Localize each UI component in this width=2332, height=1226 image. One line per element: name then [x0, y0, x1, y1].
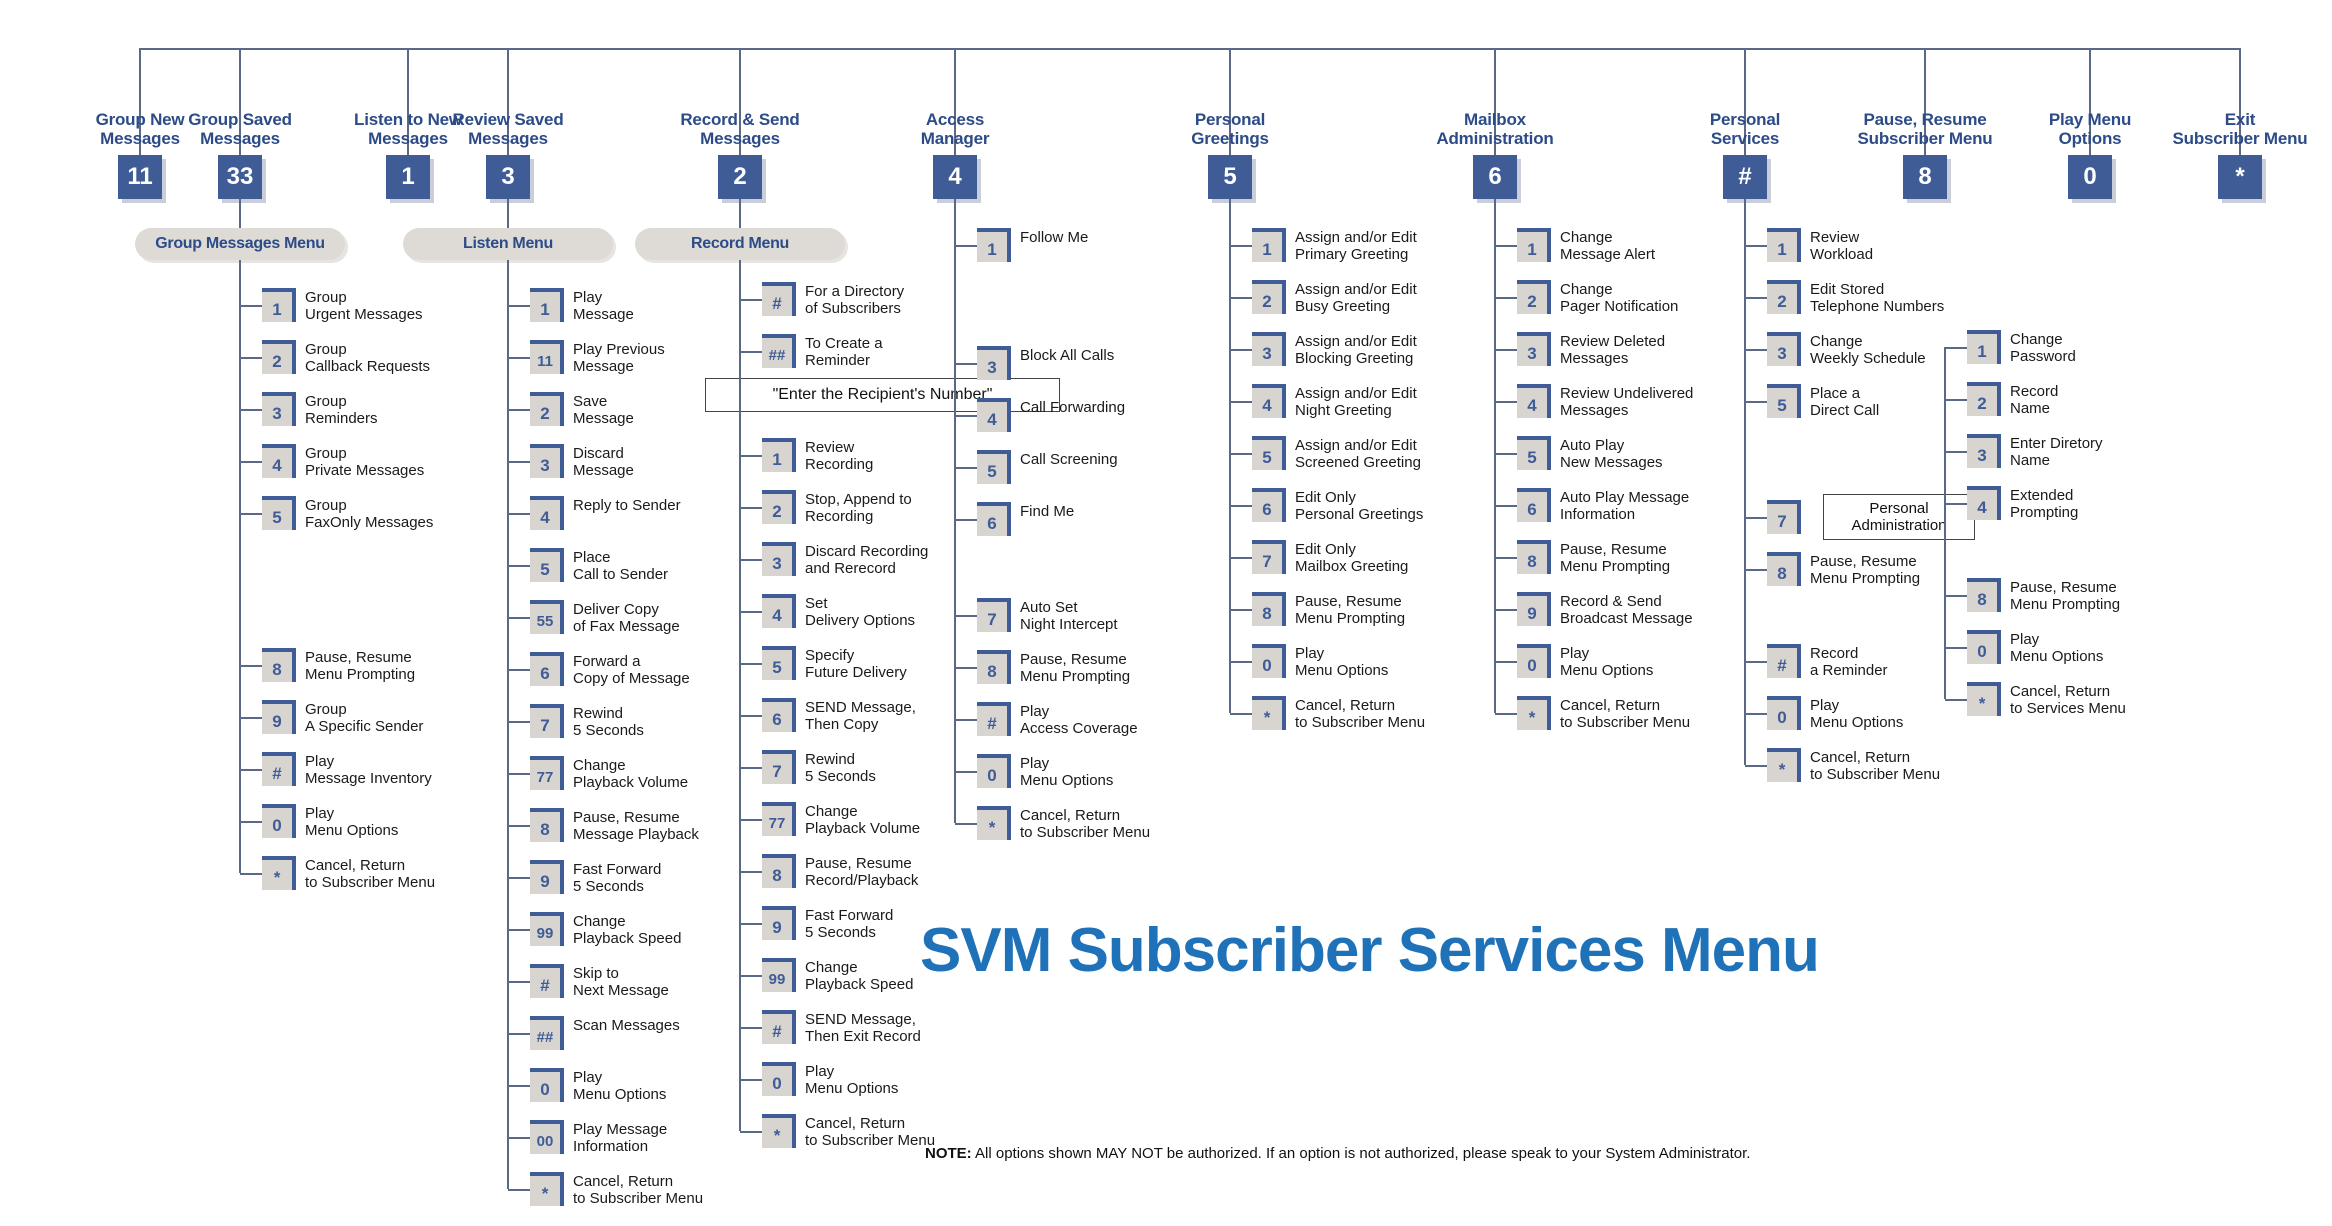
option-label: Fast Forward 5 Seconds: [573, 860, 661, 895]
option-personal-greetings-3[interactable]: 3Assign and/or Edit Blocking Greeting: [1252, 332, 1417, 367]
option-label: Edit Only Personal Greetings: [1295, 488, 1423, 523]
option-record-and-send-messages-#[interactable]: #SEND Message, Then Exit Record: [762, 1010, 921, 1045]
tick-personal-administration: [1945, 647, 1967, 649]
tick-personal-services: [1745, 569, 1767, 571]
option-key-#[interactable]: #: [262, 752, 296, 786]
key-square-mailbox-administration[interactable]: 6: [1473, 155, 1517, 199]
footer-note-text: All options shown MAY NOT be authorized.…: [972, 1145, 1751, 1162]
option-key-3[interactable]: 3: [762, 542, 796, 576]
option-key-1[interactable]: 1: [1967, 330, 2001, 364]
option-review-saved-messages-0[interactable]: 0Play Menu Options: [530, 1068, 666, 1103]
option-label: Pause, Resume Menu Prompting: [1020, 650, 1130, 685]
option-key-2[interactable]: 2: [1967, 382, 2001, 416]
option-key-0[interactable]: 0: [530, 1068, 564, 1102]
option-key-55[interactable]: 55: [530, 600, 564, 634]
option-key-8[interactable]: 8: [530, 808, 564, 842]
option-access-manager-*[interactable]: *Cancel, Return to Subscriber Menu: [977, 806, 1150, 841]
option-key-9[interactable]: 9: [262, 700, 296, 734]
tick-record-and-send-messages: [740, 871, 762, 873]
tick-review-saved-messages: [508, 721, 530, 723]
option-group-saved-messages-2[interactable]: 2Group Callback Requests: [262, 340, 430, 375]
tick-review-saved-messages: [508, 773, 530, 775]
option-record-and-send-messages-2[interactable]: 2Stop, Append to Recording: [762, 490, 912, 525]
tick-access-manager: [955, 719, 977, 721]
option-key-3[interactable]: 3: [1967, 434, 2001, 468]
option-key-1[interactable]: 1: [977, 228, 1011, 262]
option-key-5[interactable]: 5: [762, 646, 796, 680]
option-key-3[interactable]: 3: [1767, 332, 1801, 366]
option-access-manager-#[interactable]: #Play Access Coverage: [977, 702, 1138, 737]
option-key-7[interactable]: 7: [762, 750, 796, 784]
option-review-saved-messages-77[interactable]: 77Change Playback Volume: [530, 756, 688, 791]
option-key-1[interactable]: 1: [262, 288, 296, 322]
option-key-3[interactable]: 3: [1517, 332, 1551, 366]
key-square-personal-services[interactable]: #: [1723, 155, 1767, 199]
option-personal-services-3[interactable]: 3Change Weekly Schedule: [1767, 332, 1926, 367]
option-key-*[interactable]: *: [1252, 696, 1286, 730]
option-review-saved-messages-8[interactable]: 8Pause, Resume Message Playback: [530, 808, 699, 843]
option-personal-services-1[interactable]: 1Review Workload: [1767, 228, 1873, 263]
option-key-11[interactable]: 11: [530, 340, 564, 374]
option-review-saved-messages-1[interactable]: 1Play Message: [530, 288, 634, 323]
option-group-saved-messages-#[interactable]: #Play Message Inventory: [262, 752, 432, 787]
option-key-7[interactable]: 7: [1252, 540, 1286, 574]
option-review-saved-messages-00[interactable]: 00Play Message Information: [530, 1120, 667, 1155]
option-personal-services-0[interactable]: 0Play Menu Options: [1767, 696, 1903, 731]
option-access-manager-0[interactable]: 0Play Menu Options: [977, 754, 1113, 789]
option-key-4[interactable]: 4: [1252, 384, 1286, 418]
option-record-and-send-messages-7[interactable]: 7Rewind 5 Seconds: [762, 750, 876, 785]
tick-group-saved-messages: [240, 357, 262, 359]
option-group-saved-messages-9[interactable]: 9Group A Specific Sender: [262, 700, 423, 735]
option-personal-administration-1[interactable]: 1Change Password: [1967, 330, 2076, 365]
option-personal-greetings-5[interactable]: 5Assign and/or Edit Screened Greeting: [1252, 436, 1421, 471]
option-group-saved-messages-0[interactable]: 0Play Menu Options: [262, 804, 398, 839]
option-label: Cancel, Return to Subscriber Menu: [805, 1114, 935, 1149]
option-label: Group Urgent Messages: [305, 288, 423, 323]
option-label: Enter Diretory Name: [2010, 434, 2103, 469]
option-access-manager-6[interactable]: 6Find Me: [977, 502, 1074, 536]
option-record-and-send-messages-6[interactable]: 6SEND Message, Then Copy: [762, 698, 916, 733]
option-label: Pause, Resume Menu Prompting: [1810, 552, 1920, 587]
option-key-2[interactable]: 2: [1767, 280, 1801, 314]
column-title-access-manager: Access Manager: [860, 110, 1050, 148]
option-key-99[interactable]: 99: [762, 958, 796, 992]
tick-personal-administration: [1945, 699, 1967, 701]
option-label: Place Call to Sender: [573, 548, 668, 583]
tick-record-and-send-messages: [740, 819, 762, 821]
option-group-saved-messages-*[interactable]: *Cancel, Return to Subscriber Menu: [262, 856, 435, 891]
option-key-#[interactable]: #: [1767, 644, 1801, 678]
option-key-5[interactable]: 5: [262, 496, 296, 530]
option-review-saved-messages-2[interactable]: 2Save Message: [530, 392, 634, 427]
column-title-review-saved-messages: Review Saved Messages: [413, 110, 603, 148]
option-key-8[interactable]: 8: [1252, 592, 1286, 626]
option-access-manager-1[interactable]: 1Follow Me: [977, 228, 1088, 262]
option-personal-greetings-*[interactable]: *Cancel, Return to Subscriber Menu: [1252, 696, 1425, 731]
tick-access-manager: [955, 823, 977, 825]
key-square-group-saved-messages[interactable]: 33: [218, 155, 262, 199]
option-key-1[interactable]: 1: [1517, 228, 1551, 262]
option-personal-greetings-1[interactable]: 1Assign and/or Edit Primary Greeting: [1252, 228, 1417, 263]
tick-record-and-send-messages: [740, 1079, 762, 1081]
option-group-saved-messages-1[interactable]: 1Group Urgent Messages: [262, 288, 423, 323]
option-label: Auto Set Night Intercept: [1020, 598, 1118, 633]
option-mailbox-administration-1[interactable]: 1Change Message Alert: [1517, 228, 1655, 263]
option-key-6[interactable]: 6: [1252, 488, 1286, 522]
option-key-9[interactable]: 9: [762, 906, 796, 940]
option-key-6[interactable]: 6: [977, 502, 1011, 536]
option-key-5[interactable]: 5: [1517, 436, 1551, 470]
option-label: Group Private Messages: [305, 444, 424, 479]
option-key-3[interactable]: 3: [262, 392, 296, 426]
option-group-saved-messages-5[interactable]: 5Group FaxOnly Messages: [262, 496, 433, 531]
tick-personal-greetings: [1230, 401, 1252, 403]
option-key-2[interactable]: 2: [1517, 280, 1551, 314]
option-review-saved-messages-55[interactable]: 55Deliver Copy of Fax Message: [530, 600, 680, 635]
tick-review-saved-messages: [508, 1137, 530, 1139]
option-label: Play Message: [573, 288, 634, 323]
connector-pill-record-and-send-messages: [739, 199, 741, 228]
option-personal-administration-*[interactable]: *Cancel, Return to Services Menu: [1967, 682, 2126, 717]
tick-review-saved-messages: [508, 409, 530, 411]
option-key-*[interactable]: *: [977, 806, 1011, 840]
option-record-and-send-messages-0[interactable]: 0Play Menu Options: [762, 1062, 898, 1097]
option-mailbox-administration-0[interactable]: 0Play Menu Options: [1517, 644, 1653, 679]
key-square-pause-resume-subscriber-menu[interactable]: 8: [1903, 155, 1947, 199]
option-label: Cancel, Return to Subscriber Menu: [1810, 748, 1940, 783]
option-key-8[interactable]: 8: [1967, 578, 2001, 612]
option-key-77[interactable]: 77: [530, 756, 564, 790]
option-review-saved-messages-4[interactable]: 4Reply to Sender: [530, 496, 681, 530]
option-record-and-send-messages-1[interactable]: 1Review Recording: [762, 438, 873, 473]
option-key-4[interactable]: 4: [262, 444, 296, 478]
option-access-manager-3[interactable]: 3Block All Calls: [977, 346, 1114, 380]
tick-access-manager: [955, 467, 977, 469]
key-square-access-manager[interactable]: 4: [933, 155, 977, 199]
option-personal-administration-3[interactable]: 3Enter Diretory Name: [1967, 434, 2103, 469]
connector-pill-group-saved-messages: [239, 199, 241, 228]
tick-personal-services: [1745, 401, 1767, 403]
option-key-#[interactable]: #: [762, 1010, 796, 1044]
option-key-7[interactable]: 7: [530, 704, 564, 738]
option-label: Assign and/or Edit Busy Greeting: [1295, 280, 1417, 315]
option-key-1[interactable]: 1: [1252, 228, 1286, 262]
option-key-2[interactable]: 2: [762, 490, 796, 524]
option-label: Assign and/or Edit Screened Greeting: [1295, 436, 1421, 471]
option-label: Follow Me: [1020, 228, 1088, 246]
option-personal-administration-0[interactable]: 0Play Menu Options: [1967, 630, 2103, 665]
option-access-manager-7[interactable]: 7Auto Set Night Intercept: [977, 598, 1118, 633]
option-key-0[interactable]: 0: [1252, 644, 1286, 678]
key-square-personal-greetings[interactable]: 5: [1208, 155, 1252, 199]
option-review-saved-messages-##[interactable]: ##Scan Messages: [530, 1016, 680, 1050]
tick-mailbox-administration: [1495, 453, 1517, 455]
option-review-saved-messages-6[interactable]: 6Forward a Copy of Message: [530, 652, 690, 687]
tick-review-saved-messages: [508, 981, 530, 983]
option-label: For a Directory of Subscribers: [805, 282, 904, 317]
spine-access-manager: [954, 199, 956, 823]
option-label: Group A Specific Sender: [305, 700, 423, 735]
option-personal-administration-8[interactable]: 8Pause, Resume Menu Prompting: [1967, 578, 2120, 613]
option-key-#[interactable]: #: [530, 964, 564, 998]
option-record-and-send-messages-3[interactable]: 3Discard Recording and Rerecord: [762, 542, 928, 577]
tick-review-saved-messages: [508, 565, 530, 567]
option-record-and-send-messages-5[interactable]: 5Specify Future Delivery: [762, 646, 907, 681]
option-review-saved-messages-3[interactable]: 3Discard Message: [530, 444, 634, 479]
option-review-saved-messages-#[interactable]: #Skip to Next Message: [530, 964, 669, 999]
option-group-saved-messages-8[interactable]: 8Pause, Resume Menu Prompting: [262, 648, 415, 683]
option-personal-services-7[interactable]: 7: [1767, 500, 1801, 534]
tick-review-saved-messages: [508, 357, 530, 359]
option-record-and-send-messages-##[interactable]: ##To Create a Reminder: [762, 334, 883, 369]
option-key-3[interactable]: 3: [977, 346, 1011, 380]
tick-record-and-send-messages: [740, 559, 762, 561]
option-label: Play Menu Options: [1560, 644, 1653, 679]
option-record-and-send-messages-9[interactable]: 9Fast Forward 5 Seconds: [762, 906, 893, 941]
tick-mailbox-administration: [1495, 297, 1517, 299]
tick-review-saved-messages: [508, 825, 530, 827]
option-key-2[interactable]: 2: [262, 340, 296, 374]
option-key-6[interactable]: 6: [762, 698, 796, 732]
option-review-saved-messages-*[interactable]: *Cancel, Return to Subscriber Menu: [530, 1172, 703, 1207]
option-label: Play Menu Options: [1020, 754, 1113, 789]
option-key-9[interactable]: 9: [530, 860, 564, 894]
option-key-7[interactable]: 7: [977, 598, 1011, 632]
option-record-and-send-messages-4[interactable]: 4Set Delivery Options: [762, 594, 915, 629]
option-personal-administration-4[interactable]: 4Extended Prompting: [1967, 486, 2078, 521]
option-mailbox-administration-*[interactable]: *Cancel, Return to Subscriber Menu: [1517, 696, 1690, 731]
option-key-4[interactable]: 4: [977, 398, 1011, 432]
tick-review-saved-messages: [508, 513, 530, 515]
option-label: Fast Forward 5 Seconds: [805, 906, 893, 941]
tick-access-manager: [955, 615, 977, 617]
option-label: Cancel, Return to Subscriber Menu: [1560, 696, 1690, 731]
option-label: Block All Calls: [1020, 346, 1114, 364]
spine-personal-services: [1744, 199, 1746, 765]
option-key-2[interactable]: 2: [1252, 280, 1286, 314]
option-label: Rewind 5 Seconds: [573, 704, 644, 739]
key-square-play-menu-options[interactable]: 0: [2068, 155, 2112, 199]
option-key-*[interactable]: *: [530, 1172, 564, 1206]
option-key-77[interactable]: 77: [762, 802, 796, 836]
option-record-and-send-messages-#[interactable]: #For a Directory of Subscribers: [762, 282, 904, 317]
tick-personal-services: [1745, 765, 1767, 767]
tick-review-saved-messages: [508, 1189, 530, 1191]
tick-access-manager: [955, 363, 977, 365]
option-key-4[interactable]: 4: [1967, 486, 2001, 520]
option-key-8[interactable]: 8: [977, 650, 1011, 684]
option-personal-greetings-6[interactable]: 6Edit Only Personal Greetings: [1252, 488, 1423, 523]
tick-mailbox-administration: [1495, 401, 1517, 403]
tick-mailbox-administration: [1495, 609, 1517, 611]
option-key-0[interactable]: 0: [1967, 630, 2001, 664]
option-personal-services-2[interactable]: 2Edit Stored Telephone Numbers: [1767, 280, 1944, 315]
key-square-exit-subscriber-menu[interactable]: *: [2218, 155, 2262, 199]
option-key-4[interactable]: 4: [530, 496, 564, 530]
option-key-6[interactable]: 6: [530, 652, 564, 686]
option-key-3[interactable]: 3: [1252, 332, 1286, 366]
option-key-5[interactable]: 5: [1767, 384, 1801, 418]
option-key-*[interactable]: *: [1767, 748, 1801, 782]
spine-mailbox-administration: [1494, 199, 1496, 713]
key-square-record-and-send-messages[interactable]: 2: [718, 155, 762, 199]
option-review-saved-messages-11[interactable]: 11Play Previous Message: [530, 340, 665, 375]
option-key-0[interactable]: 0: [977, 754, 1011, 788]
option-key-0[interactable]: 0: [262, 804, 296, 838]
menu-pill-group-saved-messages: Group Messages Menu: [135, 228, 345, 260]
option-key-8[interactable]: 8: [1517, 540, 1551, 574]
option-key-3[interactable]: 3: [530, 444, 564, 478]
option-access-manager-5[interactable]: 5Call Screening: [977, 450, 1118, 484]
option-label: SEND Message, Then Exit Record: [805, 1010, 921, 1045]
spine-review-saved-messages: [507, 260, 509, 1189]
option-key-5[interactable]: 5: [530, 548, 564, 582]
option-label: Record Name: [2010, 382, 2058, 417]
option-key-5[interactable]: 5: [1252, 436, 1286, 470]
option-personal-administration-2[interactable]: 2Record Name: [1967, 382, 2058, 417]
option-key-0[interactable]: 0: [1767, 696, 1801, 730]
option-label: Set Delivery Options: [805, 594, 915, 629]
option-mailbox-administration-8[interactable]: 8Pause, Resume Menu Prompting: [1517, 540, 1670, 575]
column-title-personal-greetings: Personal Greetings: [1135, 110, 1325, 148]
option-key-8[interactable]: 8: [262, 648, 296, 682]
option-key-##[interactable]: ##: [762, 334, 796, 368]
option-key-99[interactable]: 99: [530, 912, 564, 946]
option-label: Review Deleted Messages: [1560, 332, 1665, 367]
tick-access-manager: [955, 245, 977, 247]
option-mailbox-administration-3[interactable]: 3Review Deleted Messages: [1517, 332, 1665, 367]
tick-personal-services: [1745, 661, 1767, 663]
option-key-4[interactable]: 4: [762, 594, 796, 628]
option-key-00[interactable]: 00: [530, 1120, 564, 1154]
option-record-and-send-messages-*[interactable]: *Cancel, Return to Subscriber Menu: [762, 1114, 935, 1149]
option-label: Pause, Resume Menu Prompting: [1560, 540, 1670, 575]
tick-review-saved-messages: [508, 305, 530, 307]
option-label: Play Access Coverage: [1020, 702, 1138, 737]
option-label: Extended Prompting: [2010, 486, 2078, 521]
tick-personal-services: [1745, 349, 1767, 351]
option-record-and-send-messages-8[interactable]: 8Pause, Resume Record/Playback: [762, 854, 918, 889]
option-key-1[interactable]: 1: [1767, 228, 1801, 262]
tick-record-and-send-messages: [740, 1027, 762, 1029]
option-review-saved-messages-7[interactable]: 7Rewind 5 Seconds: [530, 704, 644, 739]
option-key-5[interactable]: 5: [977, 450, 1011, 484]
menu-pill-review-saved-messages: Listen Menu: [403, 228, 613, 260]
option-key-8[interactable]: 8: [762, 854, 796, 888]
option-label: Auto Play Message Information: [1560, 488, 1689, 523]
option-group-saved-messages-4[interactable]: 4Group Private Messages: [262, 444, 424, 479]
tick-review-saved-messages: [508, 461, 530, 463]
option-key-#[interactable]: #: [977, 702, 1011, 736]
option-review-saved-messages-9[interactable]: 9Fast Forward 5 Seconds: [530, 860, 661, 895]
option-personal-services-*[interactable]: *Cancel, Return to Subscriber Menu: [1767, 748, 1940, 783]
option-personal-greetings-7[interactable]: 7Edit Only Mailbox Greeting: [1252, 540, 1408, 575]
tick-personal-greetings: [1230, 349, 1252, 351]
option-mailbox-administration-9[interactable]: 9Record & Send Broadcast Message: [1517, 592, 1693, 627]
option-key-9[interactable]: 9: [1517, 592, 1551, 626]
option-personal-greetings-2[interactable]: 2Assign and/or Edit Busy Greeting: [1252, 280, 1417, 315]
tick-personal-greetings: [1230, 713, 1252, 715]
option-key-2[interactable]: 2: [530, 392, 564, 426]
option-record-and-send-messages-77[interactable]: 77Change Playback Volume: [762, 802, 920, 837]
option-key-*[interactable]: *: [262, 856, 296, 890]
option-label: Edit Stored Telephone Numbers: [1810, 280, 1944, 315]
option-key-7[interactable]: 7: [1767, 500, 1801, 534]
option-key-##[interactable]: ##: [530, 1016, 564, 1050]
option-label: Place a Direct Call: [1810, 384, 1879, 419]
tick-review-saved-messages: [508, 1033, 530, 1035]
option-label: Auto Play New Messages: [1560, 436, 1663, 471]
tick-record-and-send-messages: [740, 767, 762, 769]
option-label: Assign and/or Edit Night Greeting: [1295, 384, 1417, 419]
tick-record-and-send-messages: [740, 663, 762, 665]
column-title-personal-services: Personal Services: [1650, 110, 1840, 148]
option-label: Specify Future Delivery: [805, 646, 907, 681]
option-key-*[interactable]: *: [1967, 682, 2001, 716]
option-label: Group FaxOnly Messages: [305, 496, 433, 531]
option-key-*[interactable]: *: [762, 1114, 796, 1148]
tick-personal-administration: [1945, 399, 1967, 401]
option-record-and-send-messages-99[interactable]: 99Change Playback Speed: [762, 958, 913, 993]
key-square-review-saved-messages[interactable]: 3: [486, 155, 530, 199]
option-label: Save Message: [573, 392, 634, 427]
option-key-0[interactable]: 0: [762, 1062, 796, 1096]
option-review-saved-messages-5[interactable]: 5Place Call to Sender: [530, 548, 668, 583]
option-review-saved-messages-99[interactable]: 99Change Playback Speed: [530, 912, 681, 947]
option-key-0[interactable]: 0: [1517, 644, 1551, 678]
option-key-6[interactable]: 6: [1517, 488, 1551, 522]
tick-personal-administration: [1945, 503, 1967, 505]
option-personal-services-#[interactable]: #Record a Reminder: [1767, 644, 1888, 679]
option-label: Pause, Resume Menu Prompting: [305, 648, 415, 683]
option-group-saved-messages-3[interactable]: 3Group Reminders: [262, 392, 378, 427]
option-key-#[interactable]: #: [762, 282, 796, 316]
option-key-4[interactable]: 4: [1517, 384, 1551, 418]
tick-personal-greetings: [1230, 557, 1252, 559]
key-square-group-new-messages[interactable]: 11: [118, 155, 162, 199]
option-label: Change Pager Notification: [1560, 280, 1678, 315]
option-mailbox-administration-5[interactable]: 5Auto Play New Messages: [1517, 436, 1663, 471]
footer-note: NOTE: All options shown MAY NOT be autho…: [925, 1145, 1750, 1162]
option-mailbox-administration-6[interactable]: 6Auto Play Message Information: [1517, 488, 1689, 523]
option-label: Pause, Resume Message Playback: [573, 808, 699, 843]
option-personal-greetings-0[interactable]: 0Play Menu Options: [1252, 644, 1388, 679]
tick-personal-administration: [1945, 451, 1967, 453]
option-access-manager-8[interactable]: 8Pause, Resume Menu Prompting: [977, 650, 1130, 685]
tick-personal-greetings: [1230, 609, 1252, 611]
option-key-1[interactable]: 1: [762, 438, 796, 472]
option-personal-greetings-8[interactable]: 8Pause, Resume Menu Prompting: [1252, 592, 1405, 627]
option-personal-greetings-4[interactable]: 4Assign and/or Edit Night Greeting: [1252, 384, 1417, 419]
option-access-manager-4[interactable]: 4Call Forwarding: [977, 398, 1125, 432]
option-mailbox-administration-4[interactable]: 4Review Undelivered Messages: [1517, 384, 1693, 419]
option-label: Assign and/or Edit Blocking Greeting: [1295, 332, 1417, 367]
option-label: Change Password: [2010, 330, 2076, 365]
option-personal-services-8[interactable]: 8Pause, Resume Menu Prompting: [1767, 552, 1920, 587]
column-title-pause-resume-subscriber-menu: Pause, Resume Subscriber Menu: [1830, 110, 2020, 148]
option-key-*[interactable]: *: [1517, 696, 1551, 730]
option-personal-services-5[interactable]: 5Place a Direct Call: [1767, 384, 1879, 419]
option-mailbox-administration-2[interactable]: 2Change Pager Notification: [1517, 280, 1678, 315]
option-label: Discard Message: [573, 444, 634, 479]
tick-record-and-send-messages: [740, 923, 762, 925]
option-key-1[interactable]: 1: [530, 288, 564, 322]
key-square-listen-to-new-messages[interactable]: 1: [386, 155, 430, 199]
tick-access-manager: [955, 415, 977, 417]
connector-pill-review-saved-messages: [507, 199, 509, 228]
option-key-8[interactable]: 8: [1767, 552, 1801, 586]
